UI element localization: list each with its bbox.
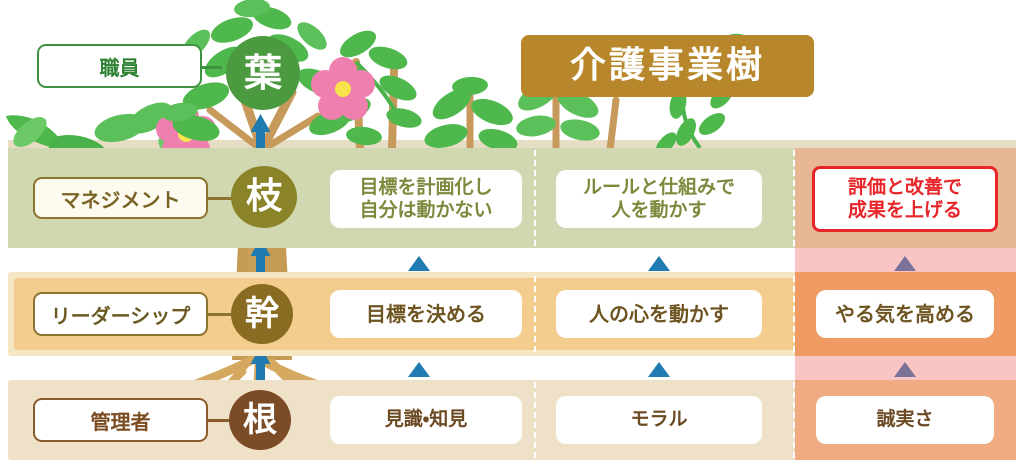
cell-root-2[interactable]: モラル [556, 396, 762, 444]
tree-node-trunk[interactable]: 幹 [231, 284, 293, 344]
cell-leadership-3[interactable]: やる気を高める [816, 290, 994, 338]
flow-arrow-up-icon [408, 362, 430, 377]
cell-root-3[interactable]: 誠実さ [816, 396, 994, 444]
role-label-leadership[interactable]: リーダーシップ [33, 292, 208, 336]
cell-management-3-accent[interactable]: 評価と改善で 成果を上げる [812, 166, 998, 232]
cell-line-2: 成果を上げる [848, 199, 962, 221]
page-title-text: 介護事業樹 [570, 48, 765, 84]
cell-management-1[interactable]: 目標を計画化し 自分は動かない [330, 170, 522, 228]
cell-leadership-1[interactable]: 目標を決める [330, 290, 522, 338]
column-separator [793, 382, 795, 458]
cell-line-1: ルールと仕組みで [583, 176, 735, 198]
cell-leadership-2[interactable]: 人の心を動かす [556, 290, 762, 338]
column-separator [534, 276, 536, 352]
cell-management-2[interactable]: ルールと仕組みで 人を動かす [556, 170, 762, 228]
page-title: 介護事業樹 [521, 35, 814, 97]
cell-line-1: 評価と改善で [848, 176, 962, 198]
tree-node-root[interactable]: 根 [229, 390, 291, 450]
cell-line-1: 目標を計画化し [359, 176, 492, 198]
column-separator [793, 150, 795, 246]
flower-center [311, 57, 375, 120]
infographic-canvas: 介護事業樹 職員 マネジメント リーダーシップ 管理者 葉 枝 幹 根 目標を計… [0, 0, 1024, 465]
tree-node-branch[interactable]: 枝 [231, 166, 297, 228]
role-label-staff[interactable]: 職員 [37, 44, 202, 88]
cell-line-2: 人を動かす [611, 199, 706, 221]
flow-arrow-up-icon [408, 256, 430, 271]
column-separator [534, 382, 536, 458]
flow-arrow-up-highlight-icon [894, 256, 916, 271]
cell-line-2: 自分は動かない [359, 199, 492, 221]
flow-arrow-up-highlight-icon [894, 362, 916, 377]
flow-arrow-up-icon [648, 362, 670, 377]
tree-node-leaf[interactable]: 葉 [226, 36, 300, 110]
column-separator [793, 276, 795, 352]
flow-arrow-up-icon [648, 256, 670, 271]
cell-root-1[interactable]: 見識・知見 [330, 396, 522, 444]
role-label-manager[interactable]: 管理者 [33, 398, 208, 442]
column-separator [534, 150, 536, 246]
role-label-management[interactable]: マネジメント [33, 177, 208, 219]
